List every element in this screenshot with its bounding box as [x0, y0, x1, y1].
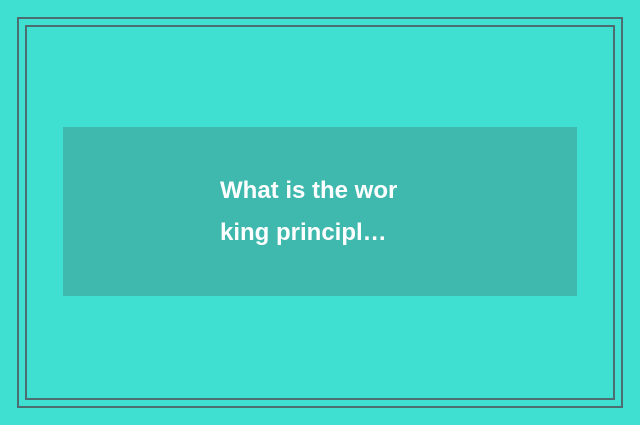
- content-card-text: What is the wor king principl…: [220, 170, 420, 254]
- slide-canvas: What is the wor king principl…: [0, 0, 640, 425]
- content-card: What is the wor king principl…: [63, 127, 577, 296]
